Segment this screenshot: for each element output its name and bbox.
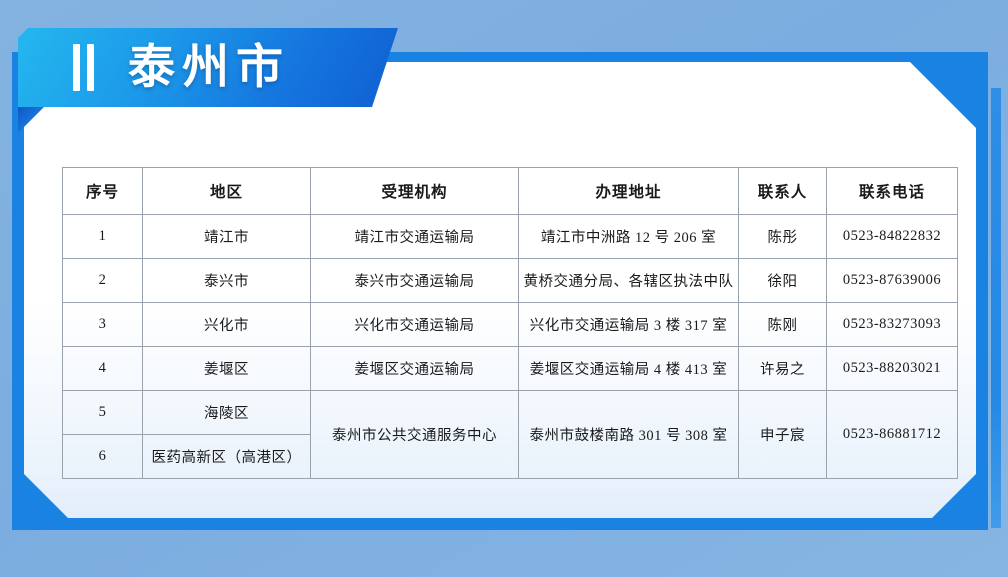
cell-area: 医药高新区（高港区） (143, 435, 311, 479)
table-header-row: 序号 地区 受理机构 办理地址 联系人 联系电话 (63, 168, 958, 215)
table-row: 5 海陵区 泰州市公共交通服务中心 泰州市鼓楼南路 301 号 308 室 申子… (63, 391, 958, 435)
cell-tel: 0523-84822832 (827, 215, 958, 259)
cell-org: 姜堰区交通运输局 (311, 347, 519, 391)
cell-no: 5 (63, 391, 143, 435)
cell-no: 1 (63, 215, 143, 259)
cell-name: 申子宸 (739, 391, 827, 479)
column-header-no: 序号 (63, 168, 143, 215)
cell-org: 泰州市公共交通服务中心 (311, 391, 519, 479)
column-header-name: 联系人 (739, 168, 827, 215)
table-row: 1 靖江市 靖江市交通运输局 靖江市中洲路 12 号 206 室 陈彤 0523… (63, 215, 958, 259)
cell-no: 2 (63, 259, 143, 303)
cell-name: 许易之 (739, 347, 827, 391)
cell-org: 兴化市交通运输局 (311, 303, 519, 347)
table-row: 3 兴化市 兴化市交通运输局 兴化市交通运输局 3 楼 317 室 陈刚 052… (63, 303, 958, 347)
double-bar-icon (73, 44, 94, 91)
cell-tel: 0523-88203021 (827, 347, 958, 391)
cell-addr: 黄桥交通分局、各辖区执法中队 (519, 259, 739, 303)
column-header-tel: 联系电话 (827, 168, 958, 215)
registration-table: 序号 地区 受理机构 办理地址 联系人 联系电话 1 靖江市 靖江市交通运输局 … (62, 167, 958, 479)
column-header-org: 受理机构 (311, 168, 519, 215)
column-header-addr: 办理地址 (519, 168, 739, 215)
cell-tel: 0523-86881712 (827, 391, 958, 479)
column-header-area: 地区 (143, 168, 311, 215)
cell-org: 泰兴市交通运输局 (311, 259, 519, 303)
cell-no: 4 (63, 347, 143, 391)
cell-org: 靖江市交通运输局 (311, 215, 519, 259)
right-accent-bar (991, 88, 1001, 528)
poster-canvas: 泰州市 序号 地区 受理机构 办理地址 联系人 联系电话 1 (0, 0, 1008, 577)
cell-area: 兴化市 (143, 303, 311, 347)
cell-area: 泰兴市 (143, 259, 311, 303)
cell-addr: 兴化市交通运输局 3 楼 317 室 (519, 303, 739, 347)
cell-name: 陈刚 (739, 303, 827, 347)
page-title: 泰州市 (128, 44, 290, 91)
cell-tel: 0523-87639006 (827, 259, 958, 303)
table-row: 2 泰兴市 泰兴市交通运输局 黄桥交通分局、各辖区执法中队 徐阳 0523-87… (63, 259, 958, 303)
cell-name: 徐阳 (739, 259, 827, 303)
cell-area: 靖江市 (143, 215, 311, 259)
registration-table-wrap: 序号 地区 受理机构 办理地址 联系人 联系电话 1 靖江市 靖江市交通运输局 … (62, 167, 957, 479)
cell-no: 3 (63, 303, 143, 347)
header-banner: 泰州市 (18, 28, 398, 107)
cell-name: 陈彤 (739, 215, 827, 259)
cell-no: 6 (63, 435, 143, 479)
cell-area: 海陵区 (143, 391, 311, 435)
cell-addr: 泰州市鼓楼南路 301 号 308 室 (519, 391, 739, 479)
cell-tel: 0523-83273093 (827, 303, 958, 347)
table-row: 4 姜堰区 姜堰区交通运输局 姜堰区交通运输局 4 楼 413 室 许易之 05… (63, 347, 958, 391)
cell-area: 姜堰区 (143, 347, 311, 391)
cell-addr: 靖江市中洲路 12 号 206 室 (519, 215, 739, 259)
cell-addr: 姜堰区交通运输局 4 楼 413 室 (519, 347, 739, 391)
